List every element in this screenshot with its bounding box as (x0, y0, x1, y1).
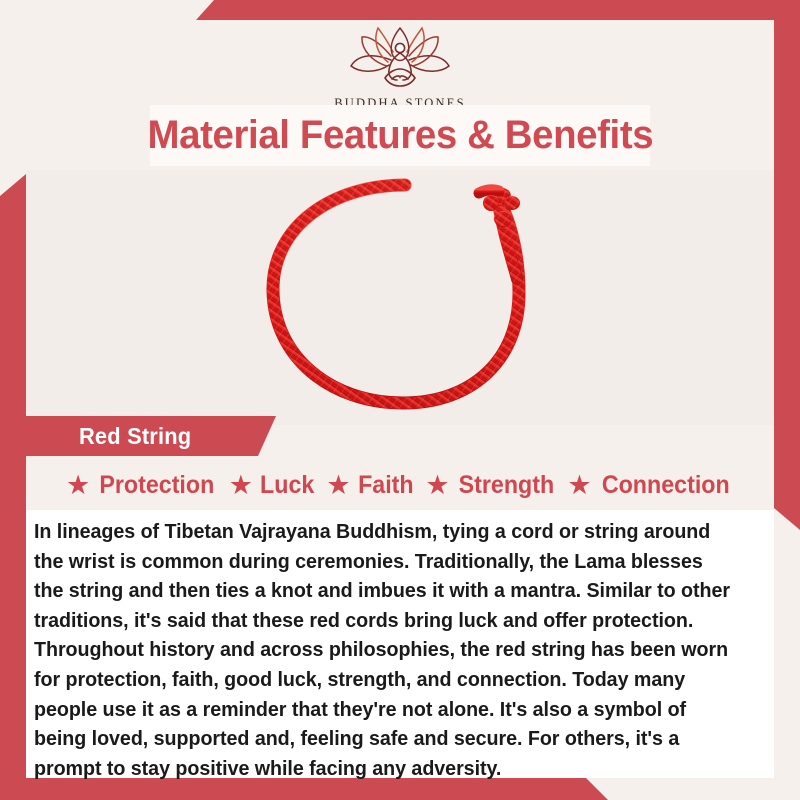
description-panel: In lineages of Tibetan Vajrayana Buddhis… (26, 510, 774, 778)
feature-item-strength: ★ Strength (425, 471, 557, 500)
brand-logo: BUDDHA STONES (26, 22, 774, 111)
star-icon: ★ (425, 472, 449, 499)
description-text: In lineages of Tibetan Vajrayana Buddhis… (34, 518, 737, 784)
header: BUDDHA STONES Material Features & Benefi… (26, 20, 774, 170)
decor-band-top (0, 0, 800, 20)
red-string-bracelet-illustration (235, 173, 565, 423)
product-image (26, 170, 774, 425)
decor-band-right (774, 0, 800, 530)
star-icon: ★ (326, 472, 350, 499)
feature-item-luck: ★ Luck (229, 471, 317, 500)
page-title: Material Features & Benefits (147, 113, 653, 158)
feature-label: Strength (458, 471, 554, 500)
feature-label: Faith (358, 471, 414, 500)
feature-list: ★ Protection ★ Luck ★ Faith ★ Strength ★… (26, 460, 774, 510)
star-icon: ★ (229, 472, 253, 499)
feature-item-connection: ★ Connection (567, 471, 734, 500)
infographic-page: BUDDHA STONES Material Features & Benefi… (0, 0, 800, 800)
lotus-meditation-icon (335, 22, 465, 94)
feature-item-faith: ★ Faith (326, 471, 415, 500)
section-ribbon-label: Red String (79, 423, 191, 450)
decor-band-left (0, 0, 26, 800)
feature-label: Luck (260, 471, 314, 500)
title-banner: Material Features & Benefits (150, 105, 650, 166)
feature-label: Connection (601, 471, 729, 500)
feature-label: Protection (99, 471, 214, 500)
star-icon: ★ (567, 472, 591, 499)
content-card: BUDDHA STONES Material Features & Benefi… (26, 20, 774, 778)
section-ribbon: Red String (26, 416, 276, 456)
star-icon: ★ (66, 472, 90, 499)
feature-item-protection: ★ Protection (66, 471, 219, 500)
